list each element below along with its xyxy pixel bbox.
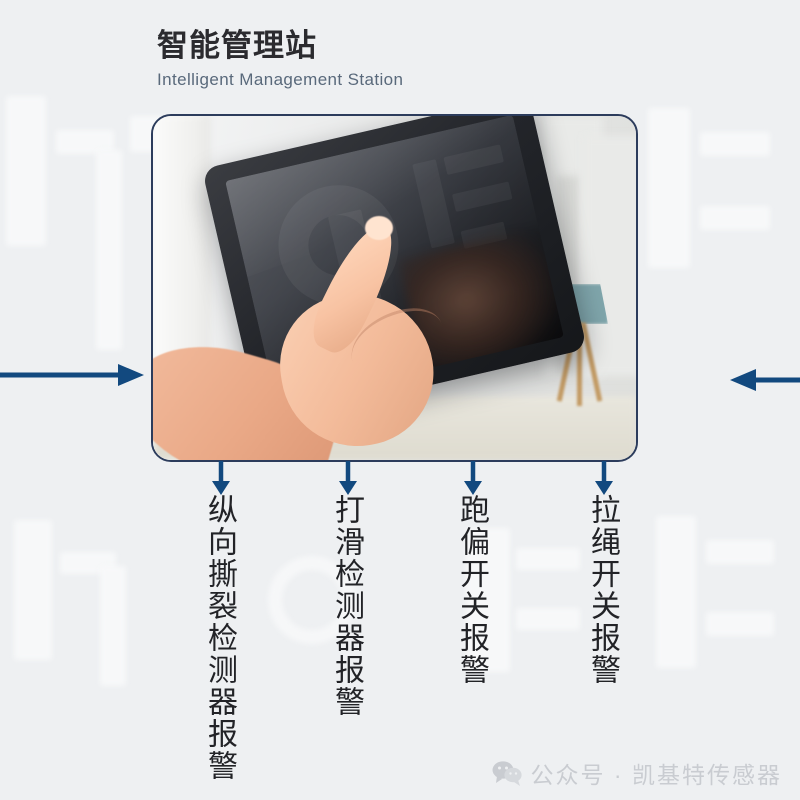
page-title: 智能管理站 bbox=[157, 26, 403, 66]
arrow-right-icon bbox=[0, 360, 146, 390]
page-subtitle: Intelligent Management Station bbox=[157, 68, 403, 92]
alarm-label-belt-deviation-switch: 跑偏开关报警 bbox=[455, 494, 488, 686]
arrow-down-icon bbox=[595, 461, 613, 495]
alarm-label-pull-cord-switch: 拉绳开关报警 bbox=[586, 494, 619, 686]
arrow-left-icon bbox=[728, 365, 800, 395]
wechat-watermark: 公众号 · 凯基特传感器 bbox=[492, 756, 782, 790]
watermark-text: 公众号 · 凯基特传感器 bbox=[531, 756, 782, 790]
incoming-flow-arrow-left bbox=[0, 360, 146, 395]
hand-touching-tablet-photo bbox=[153, 116, 636, 460]
incoming-flow-arrow-right bbox=[728, 365, 800, 400]
arrow-down-icon bbox=[339, 461, 357, 495]
intelligent-management-station-photo-frame bbox=[151, 114, 638, 462]
arrow-down-icon bbox=[212, 461, 230, 495]
wechat-icon bbox=[492, 760, 522, 786]
arrow-down-icon bbox=[464, 461, 482, 495]
alarm-label-slip-detector: 打滑检测器报警 bbox=[330, 494, 363, 718]
page-title-block: 智能管理站 Intelligent Management Station bbox=[157, 26, 403, 92]
alarm-label-longitudinal-tear-detector: 纵向撕裂检测器报警 bbox=[203, 494, 236, 782]
